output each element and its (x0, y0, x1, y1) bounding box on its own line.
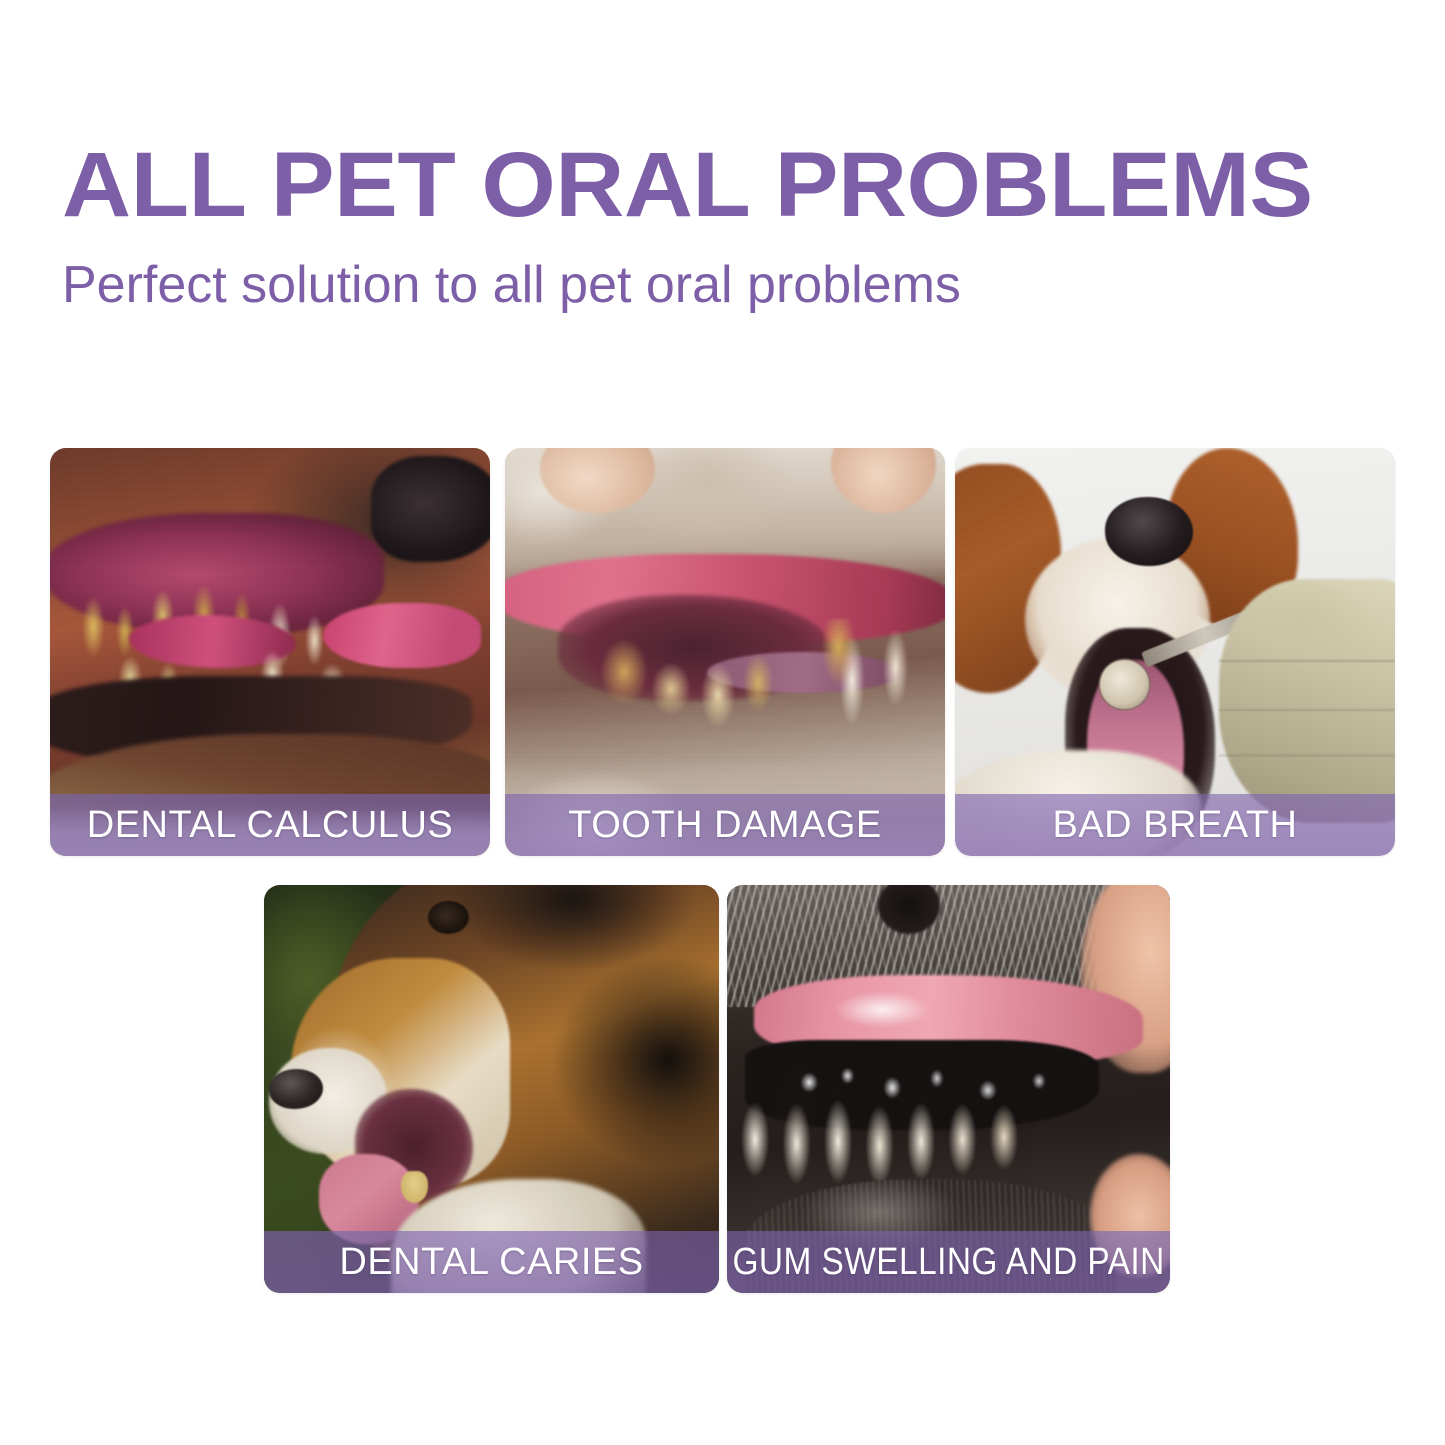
problem-card-grid: DENTAL CALCULUS TOOTH DAMAGE (0, 0, 1445, 1445)
caption-label: DENTAL CARIES (339, 1241, 643, 1284)
card-dental-caries[interactable]: DENTAL CARIES (264, 885, 719, 1293)
caption-label: TOOTH DAMAGE (568, 804, 882, 847)
caption-bar-dental-caries: DENTAL CARIES (264, 1231, 719, 1293)
card-gum-swelling-and-pain[interactable]: GUM SWELLING AND PAIN (727, 885, 1170, 1293)
card-tooth-damage[interactable]: TOOTH DAMAGE (505, 448, 945, 856)
caption-bar-bad-breath: BAD BREATH (955, 794, 1395, 856)
caption-label: BAD BREATH (1052, 804, 1297, 847)
caption-label: DENTAL CALCULUS (87, 804, 453, 847)
caption-bar-dental-calculus: DENTAL CALCULUS (50, 794, 490, 856)
caption-label: GUM SWELLING AND PAIN (732, 1241, 1164, 1284)
card-dental-calculus[interactable]: DENTAL CALCULUS (50, 448, 490, 856)
caption-bar-gum-swelling-and-pain: GUM SWELLING AND PAIN (727, 1231, 1170, 1293)
caption-bar-tooth-damage: TOOTH DAMAGE (505, 794, 945, 856)
card-bad-breath[interactable]: BAD BREATH (955, 448, 1395, 856)
infographic-page: ALL PET ORAL PROBLEMS Perfect solution t… (0, 0, 1445, 1445)
